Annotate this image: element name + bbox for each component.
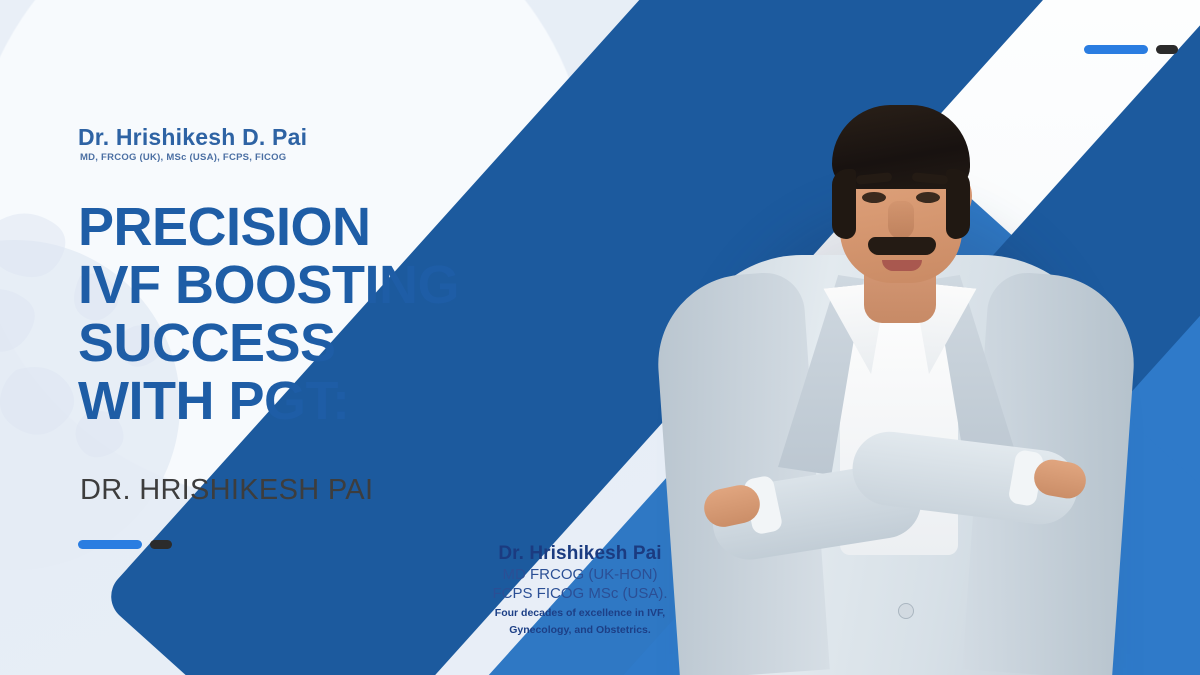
credit-tagline-line-1: Four decades of excellence in IVF,: [430, 606, 730, 620]
headline-line-4: WITH PGT:: [78, 372, 459, 430]
brand-doctor-name: Dr. Hrishikesh D. Pai: [78, 124, 307, 151]
headline-line-1: PRECISION: [78, 198, 459, 256]
portrait-eye-left: [862, 192, 886, 203]
portrait-hair-side-left: [832, 169, 856, 239]
portrait-jacket-button: [898, 603, 914, 619]
credit-doctor-name: Dr. Hrishikesh Pai: [430, 543, 730, 565]
portrait-hair-side-right: [946, 169, 970, 239]
dash-short-icon: [1156, 45, 1178, 54]
credit-qualification-line-1: MD FRCOG (UK-HON): [430, 565, 730, 584]
page-title: PRECISION IVF BOOSTING SUCCESS WITH PGT:: [78, 198, 459, 430]
poster-canvas: Dr. Hrishikesh D. Pai MD, FRCOG (UK), MS…: [0, 0, 1200, 675]
credit-tagline-line-2: Gynecology, and Obstetrics.: [430, 623, 730, 637]
portrait-eye-right: [916, 192, 940, 203]
credit-qualification-line-2: FCPS FICOG MSc (USA).: [430, 584, 730, 603]
doctor-portrait: [682, 0, 1112, 675]
portrait-mouth: [882, 260, 922, 271]
decorative-dash-top-right: [1084, 45, 1178, 54]
headline-line-2: IVF BOOSTING: [78, 256, 459, 314]
dash-long-icon: [1084, 45, 1148, 54]
portrait-nose: [888, 201, 914, 239]
portrait-mustache: [868, 237, 936, 255]
headline-line-3: SUCCESS: [78, 314, 459, 372]
credit-block: Dr. Hrishikesh Pai MD FRCOG (UK-HON) FCP…: [430, 543, 730, 637]
subheadline: DR. HRISHIKESH PAI: [80, 474, 373, 507]
brand-credentials: MD, FRCOG (UK), MSc (USA), FCPS, FICOG: [80, 152, 286, 163]
